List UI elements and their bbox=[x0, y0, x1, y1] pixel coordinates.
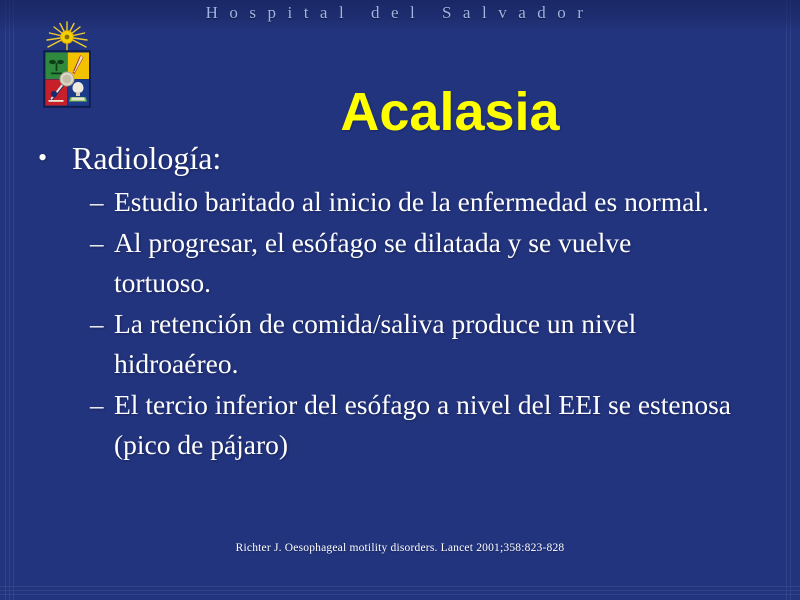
frame-line-left-2 bbox=[9, 0, 10, 600]
presentation-slide: Hospital del Salvador bbox=[0, 0, 800, 600]
bullet-dash-icon: – bbox=[90, 304, 114, 344]
bullet-dash-icon: – bbox=[90, 182, 114, 222]
bullet-level2-text: Estudio baritado al inicio de la enferme… bbox=[114, 182, 734, 222]
bullet-level2-progresar: – Al progresar, el esófago se dilatada y… bbox=[38, 223, 762, 303]
frame-line-bottom-2 bbox=[0, 590, 800, 591]
frame-line-left-3 bbox=[13, 0, 14, 600]
shield-quadrants bbox=[44, 51, 90, 107]
bullet-level2-text: Al progresar, el esófago se dilatada y s… bbox=[114, 223, 734, 303]
frame-line-right-1 bbox=[786, 0, 787, 600]
reference-citation: Richter J. Oesophageal motility disorder… bbox=[0, 542, 800, 554]
frame-line-right-2 bbox=[790, 0, 791, 600]
bullet-level2-text: La retención de comida/saliva produce un… bbox=[114, 304, 734, 384]
bullet-level2-estudio-baritado: – Estudio baritado al inicio de la enfer… bbox=[38, 182, 762, 222]
frame-line-bottom-1 bbox=[0, 586, 800, 587]
bullet-dash-icon: – bbox=[90, 385, 114, 425]
bullet-dash-icon: – bbox=[90, 223, 114, 263]
bullet-level1-radiologia: • Radiología: bbox=[38, 138, 762, 178]
institution-name: Hospital del Salvador bbox=[0, 3, 800, 23]
slide-body: • Radiología: – Estudio baritado al inic… bbox=[38, 138, 762, 466]
frame-line-bottom-3 bbox=[0, 594, 800, 595]
sub-bullet-list: – Estudio baritado al inicio de la enfer… bbox=[38, 182, 762, 465]
slide-title: Acalasia bbox=[120, 83, 780, 141]
university-shield-logo bbox=[36, 20, 98, 118]
frame-line-left-1 bbox=[5, 0, 6, 600]
bullet-level2-tercio-inferior: – El tercio inferior del esófago a nivel… bbox=[38, 385, 762, 465]
bullet-level2-retencion: – La retención de comida/saliva produce … bbox=[38, 304, 762, 384]
bullet-dot-icon: • bbox=[38, 138, 72, 178]
bullet-level2-text: El tercio inferior del esófago a nivel d… bbox=[114, 385, 734, 465]
bullet-level1-text: Radiología: bbox=[72, 138, 762, 178]
